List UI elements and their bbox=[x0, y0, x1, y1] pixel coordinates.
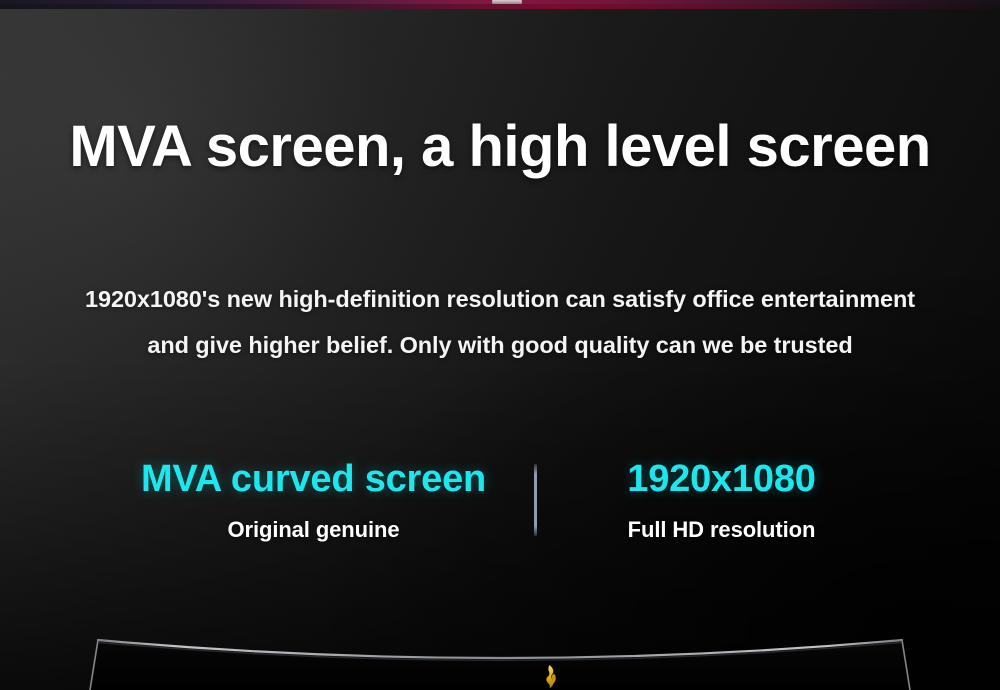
feature-subtitle: Original genuine bbox=[228, 519, 400, 541]
feature-mva-curved-screen: MVA curved screen Original genuine bbox=[124, 460, 504, 541]
description-line-1: 1920x1080's new high-definition resoluti… bbox=[0, 276, 1000, 322]
description-line-2: and give higher belief. Only with good q… bbox=[0, 322, 1000, 368]
feature-callouts: MVA curved screen Original genuine 1920x… bbox=[0, 460, 1000, 565]
feature-divider bbox=[534, 464, 537, 536]
gold-logo-icon bbox=[541, 664, 561, 690]
curved-monitor-graphic bbox=[0, 610, 1000, 690]
description-paragraph: 1920x1080's new high-definition resoluti… bbox=[0, 276, 1000, 368]
feature-subtitle: Full HD resolution bbox=[628, 519, 816, 541]
feature-title: 1920x1080 bbox=[627, 460, 815, 498]
page-title: MVA screen, a high level screen bbox=[0, 115, 1000, 180]
product-banner: MVA screen, a high level screen 1920x108… bbox=[0, 0, 1000, 690]
feature-resolution: 1920x1080 Full HD resolution bbox=[567, 460, 877, 541]
top-edge-seam bbox=[0, 0, 1000, 9]
top-edge-seam-highlight bbox=[492, 0, 522, 4]
feature-title: MVA curved screen bbox=[141, 460, 486, 498]
